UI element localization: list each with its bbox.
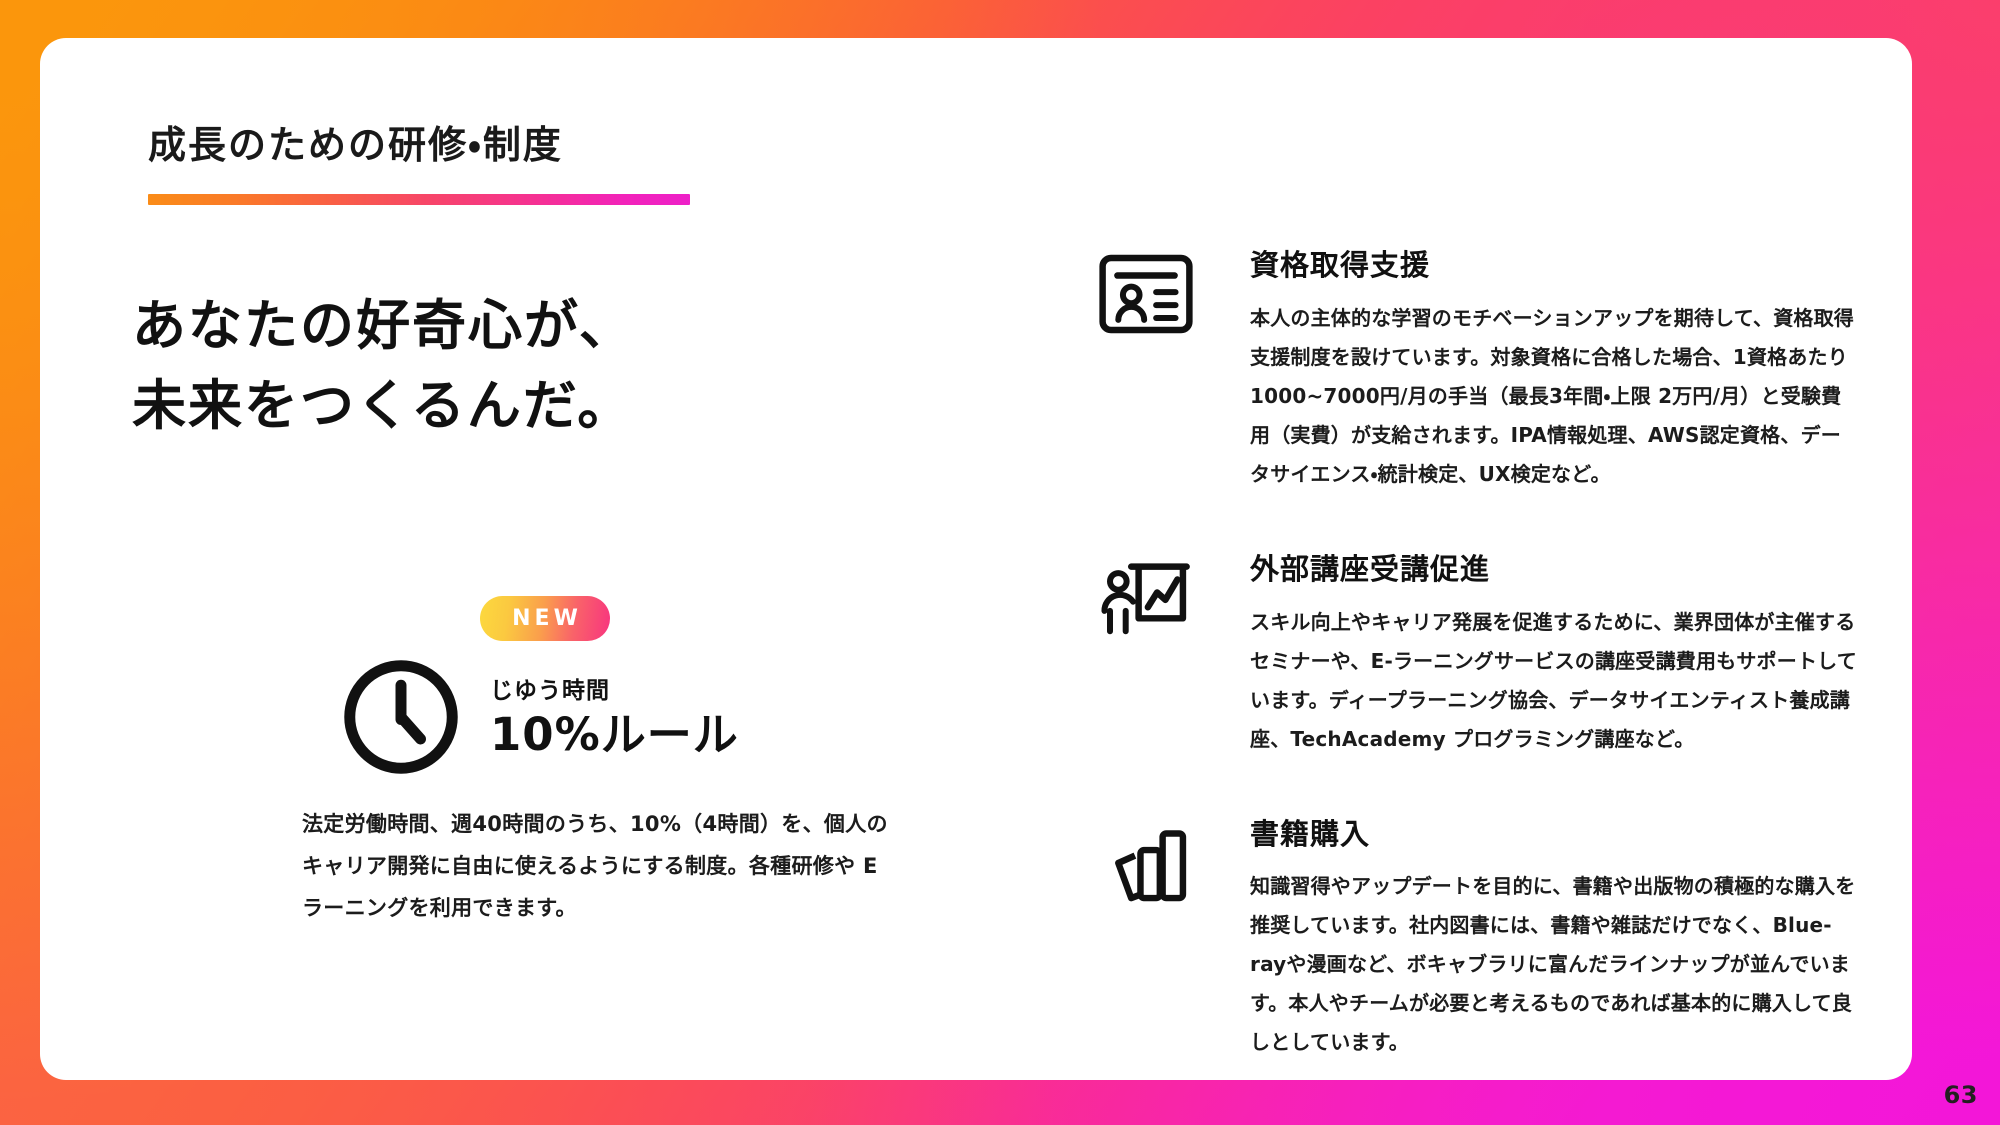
rule-title: 10%ルール [490, 711, 739, 758]
feature-list: 資格取得支援 本人の主体的な学習のモチベーションアップを期待して、資格取得支援制… [1098, 248, 1858, 1062]
feature-title: 資格取得支援 [1250, 248, 1858, 283]
rule-heading-row: じゆう時間 10%ルール [340, 656, 739, 778]
page-number: 63 [1944, 1081, 1978, 1109]
feature-body: 資格取得支援 本人の主体的な学習のモチベーションアップを期待して、資格取得支援制… [1098, 248, 1858, 494]
headline-line-1: あなたの好奇心が、 [132, 286, 635, 366]
headline-line-2: 未来をつくるんだ。 [132, 366, 635, 446]
presentation-chart-icon [1098, 556, 1194, 640]
slide-background: 成長のための研修・制度 あなたの好奇心が、 未来をつくるんだ。 NEW じゆう時… [0, 0, 2000, 1125]
feature-description: 知識習得やアップデートを目的に、書籍や出版物の積極的な購入を推奨しています。社内… [1250, 867, 1858, 1062]
feature-title: 書籍購入 [1250, 817, 1858, 852]
page-title: 成長のための研修・制度 [148, 122, 708, 170]
clock-icon [340, 656, 462, 778]
rule-kicker: じゆう時間 [490, 671, 739, 705]
id-card-icon [1098, 252, 1194, 336]
feature-title: 外部講座受講促進 [1250, 552, 1858, 587]
rule-description: 法定労働時間、週40時間のうち、10%（4時間）を、個人のキャリア開発に自由に使… [302, 803, 902, 929]
books-icon [1098, 821, 1194, 905]
feature-description: スキル向上やキャリア発展を促進するために、業界団体が主催するセミナーや、E-ラー… [1250, 603, 1858, 759]
feature-item: 外部講座受講促進 スキル向上やキャリア発展を促進するために、業界団体が主催するセ… [1098, 552, 1858, 759]
feature-item: 資格取得支援 本人の主体的な学習のモチベーションアップを期待して、資格取得支援制… [1098, 248, 1858, 494]
new-badge: NEW [480, 596, 610, 641]
feature-body: 書籍購入 知識習得やアップデートを目的に、書籍や出版物の積極的な購入を推奨してい… [1098, 817, 1858, 1063]
rule-text-group: じゆう時間 10%ルール [490, 671, 739, 762]
title-underline-rule [148, 194, 690, 205]
feature-description: 本人の主体的な学習のモチベーションアップを期待して、資格取得支援制度を設けていま… [1250, 299, 1858, 494]
headline: あなたの好奇心が、 未来をつくるんだ。 [132, 286, 635, 446]
section-header: 成長のための研修・制度 [148, 122, 708, 205]
feature-item: 書籍購入 知識習得やアップデートを目的に、書籍や出版物の積極的な購入を推奨してい… [1098, 817, 1858, 1063]
slide-card: 成長のための研修・制度 あなたの好奇心が、 未来をつくるんだ。 NEW じゆう時… [40, 38, 1912, 1080]
feature-body: 外部講座受講促進 スキル向上やキャリア発展を促進するために、業界団体が主催するセ… [1098, 552, 1858, 759]
